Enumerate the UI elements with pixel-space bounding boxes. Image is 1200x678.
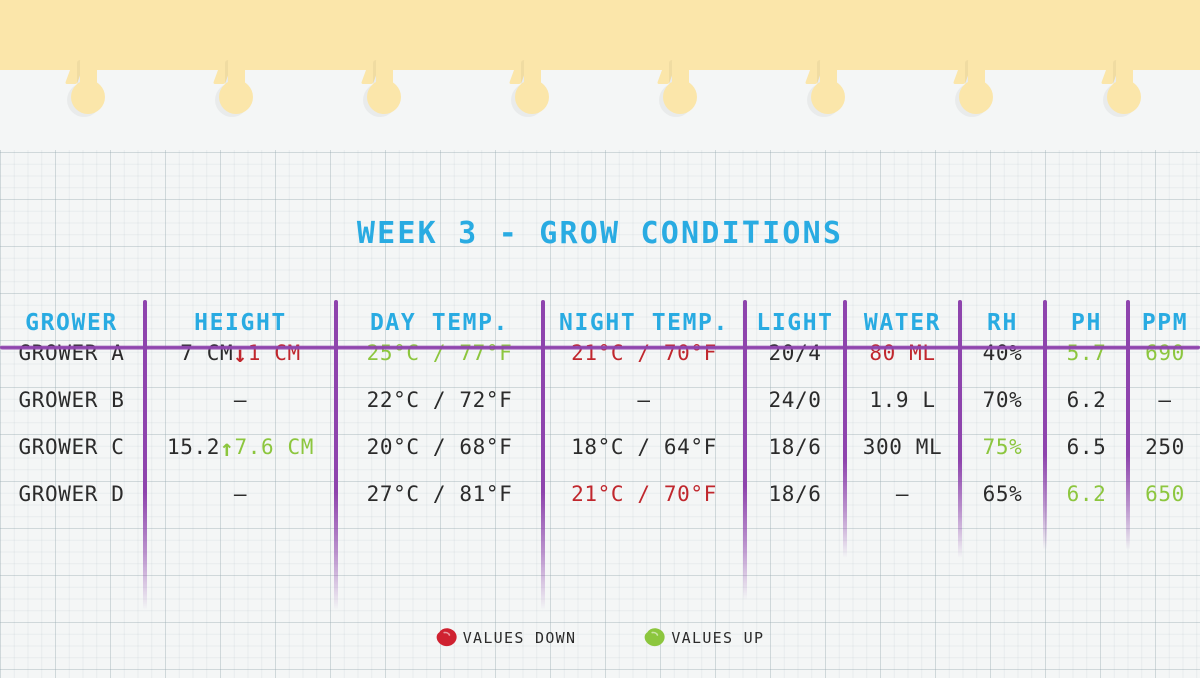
binder-tab <box>372 58 396 108</box>
cell-grower: GROWER D <box>0 471 143 518</box>
cell-height: – <box>147 471 334 518</box>
cell-rh: 75% <box>962 424 1043 471</box>
cell-ph: 6.2 <box>1047 377 1126 424</box>
binder-tab <box>76 58 100 108</box>
cell-day_temp: 25°C / 77°F <box>338 330 541 377</box>
table-row: GROWER C15.2↑7.6 CM20°C / 68°F18°C / 64°… <box>0 424 1200 471</box>
header-underline <box>0 345 1200 350</box>
legend-label: VALUES DOWN <box>463 629 577 647</box>
column-divider <box>958 300 962 558</box>
height-base-value: – <box>234 388 247 412</box>
column-divider <box>843 300 847 558</box>
column-divider <box>334 300 338 610</box>
legend: VALUES DOWNVALUES UP <box>0 628 1200 647</box>
binder-tab <box>668 58 692 108</box>
cell-rh: 40% <box>962 330 1043 377</box>
page-title: WEEK 3 - GROW CONDITIONS <box>0 216 1200 251</box>
cell-grower: GROWER B <box>0 377 143 424</box>
cell-light: 20/4 <box>747 330 843 377</box>
binder-tab <box>224 58 248 108</box>
cell-rh: 65% <box>962 471 1043 518</box>
cell-grower: GROWER A <box>0 330 143 377</box>
red-blob-icon <box>436 628 458 647</box>
binder-tab <box>816 58 840 108</box>
binder-tab <box>1112 58 1136 108</box>
legend-item: VALUES DOWN <box>436 628 577 647</box>
trend-arrow-up-icon: ↑ <box>220 426 234 471</box>
cell-ph: 6.5 <box>1047 424 1126 471</box>
table-row: GROWER D–27°C / 81°F21°C / 70°F18/6–65%6… <box>0 471 1200 518</box>
cell-light: 24/0 <box>747 377 843 424</box>
cell-grower: GROWER C <box>0 424 143 471</box>
cell-night_temp: 21°C / 70°F <box>545 471 743 518</box>
cell-water: 300 ML <box>847 424 958 471</box>
height-delta-value: 7.6 CM <box>234 435 313 459</box>
cell-ppm: 690 <box>1130 330 1200 377</box>
table-row: GROWER B–22°C / 72°F–24/01.9 L70%6.2– <box>0 377 1200 424</box>
cell-ph: 6.2 <box>1047 471 1126 518</box>
binder-strip <box>0 0 1200 70</box>
cell-ph: 5.7 <box>1047 330 1126 377</box>
cell-day_temp: 20°C / 68°F <box>338 424 541 471</box>
cell-height: 7 CM↓1 CM <box>147 330 334 377</box>
cell-ppm: 250 <box>1130 424 1200 471</box>
trend-arrow-down-icon: ↓ <box>233 332 247 377</box>
legend-label: VALUES UP <box>671 629 764 647</box>
cell-rh: 70% <box>962 377 1043 424</box>
cell-night_temp: 21°C / 70°F <box>545 330 743 377</box>
cell-ppm: 650 <box>1130 471 1200 518</box>
legend-item: VALUES UP <box>644 628 764 647</box>
cell-day_temp: 27°C / 81°F <box>338 471 541 518</box>
cell-light: 18/6 <box>747 471 843 518</box>
column-divider <box>1043 300 1047 550</box>
cell-day_temp: 22°C / 72°F <box>338 377 541 424</box>
height-base-value: – <box>234 482 247 506</box>
table-row: GROWER A7 CM↓1 CM25°C / 77°F21°C / 70°F2… <box>0 330 1200 377</box>
column-divider <box>1126 300 1130 550</box>
binder-tab <box>520 58 544 108</box>
column-divider <box>743 300 747 600</box>
green-blob-icon <box>644 628 666 647</box>
cell-water: 1.9 L <box>847 377 958 424</box>
paper-top-margin <box>0 120 1200 152</box>
column-divider <box>541 300 545 610</box>
cell-night_temp: – <box>545 377 743 424</box>
column-divider <box>143 300 147 610</box>
cell-water: – <box>847 471 958 518</box>
height-base-value: 15.2 <box>167 435 220 459</box>
cell-light: 18/6 <box>747 424 843 471</box>
binder-tab <box>964 58 988 108</box>
cell-height: – <box>147 377 334 424</box>
cell-water: 80 ML <box>847 330 958 377</box>
cell-night_temp: 18°C / 64°F <box>545 424 743 471</box>
cell-ppm: – <box>1130 377 1200 424</box>
grow-conditions-table: GROWERHEIGHTDAY TEMP.NIGHT TEMP.LIGHTWAT… <box>0 300 1200 347</box>
cell-height: 15.2↑7.6 CM <box>147 424 334 471</box>
